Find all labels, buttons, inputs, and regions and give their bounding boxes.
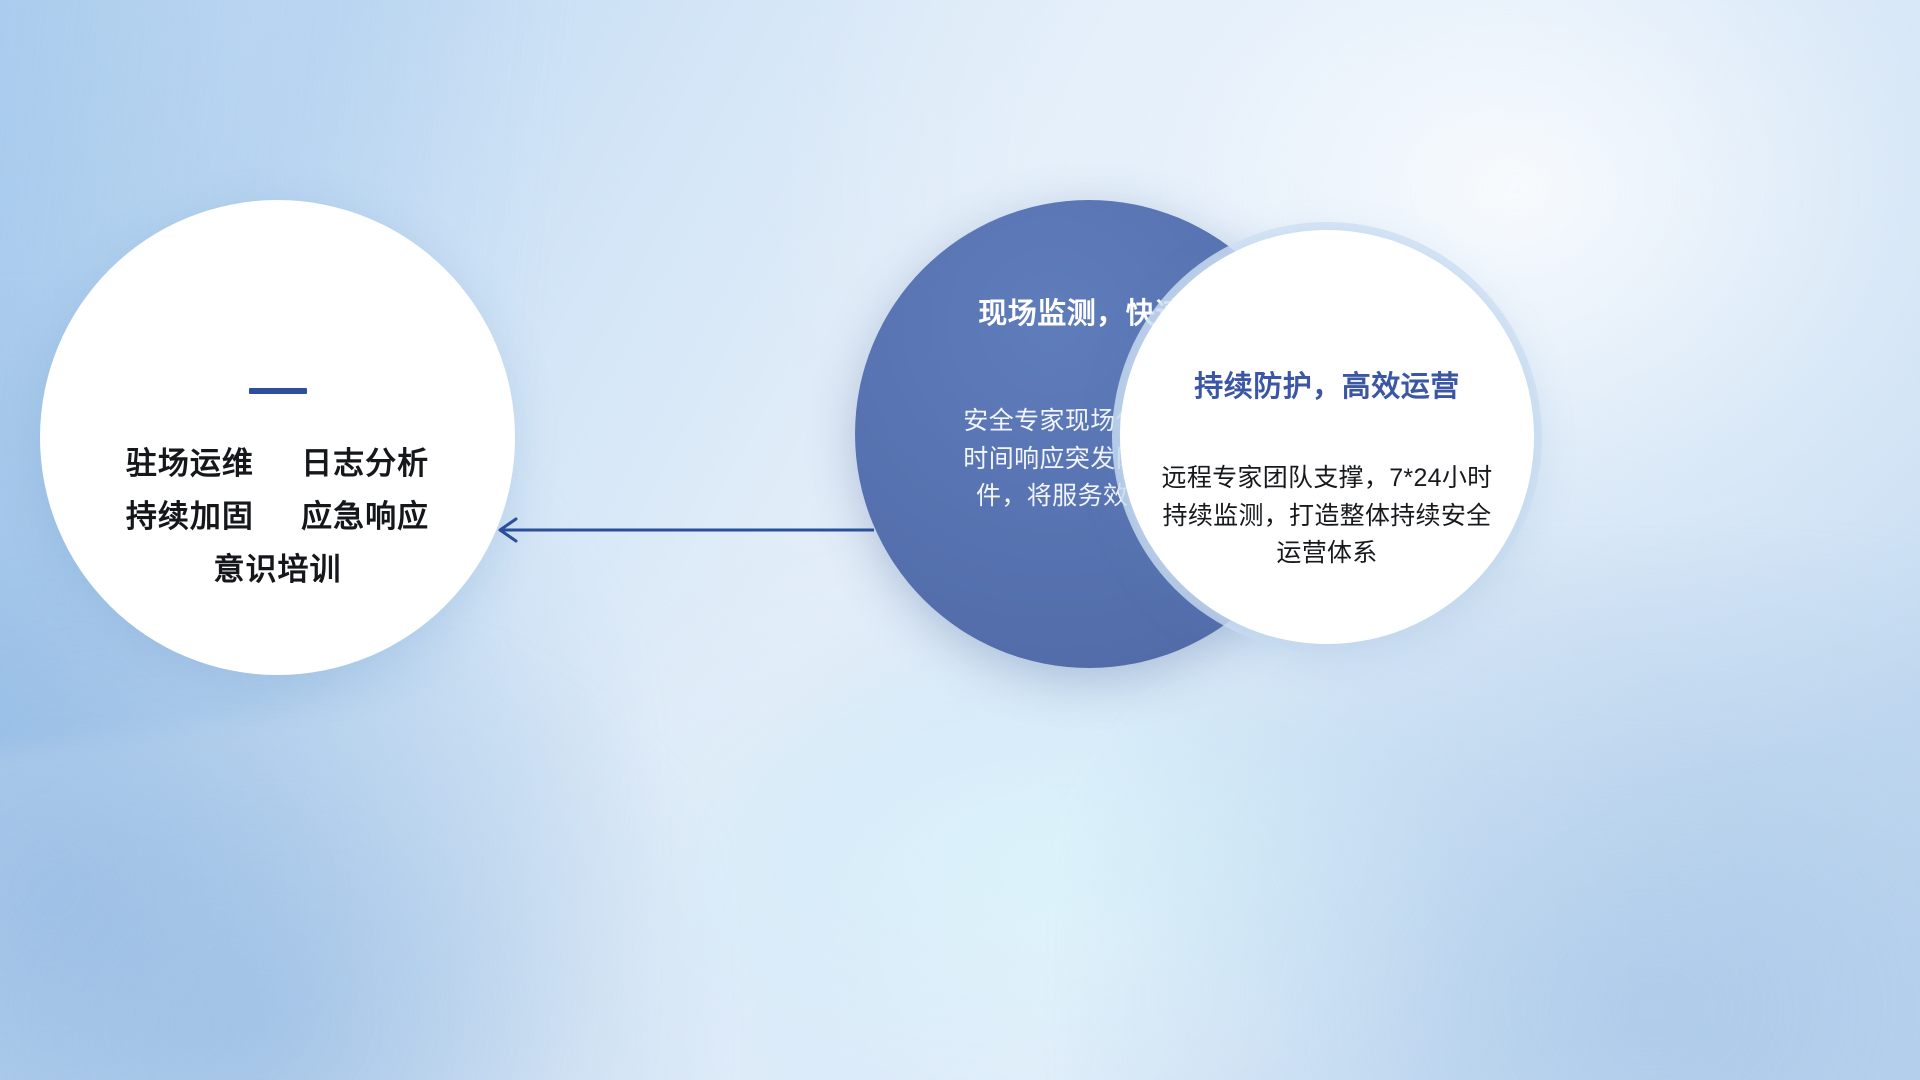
slide-canvas: 驻场运维 日志分析 持续加固 应急响应 意识培训 现 [0,0,1920,1080]
divider-dash [249,388,307,394]
capability-item-chixujiagu: 持续加固 [126,499,254,534]
capability-line-3: 意识培训 [214,554,342,585]
right-circle-content: 持续防护，高效运营 远程专家团队支撑，7*24小时持续监测，打造整体持续安全运营… [1120,230,1534,644]
left-capability-circle[interactable]: 驻场运维 日志分析 持续加固 应急响应 意识培训 [40,200,515,675]
capability-item-zhuchangyunwei: 驻场运维 [126,446,254,481]
arrow-left-pointing [484,512,874,548]
arrow-icon [484,512,874,548]
right-circle-body: 远程专家团队支撑，7*24小时持续监测，打造整体持续安全运营体系 [1151,460,1503,573]
capability-line-1: 驻场运维 日志分析 [126,448,429,479]
capability-item-yingjixiangying: 应急响应 [301,499,429,534]
capability-list: 驻场运维 日志分析 持续加固 应急响应 意识培训 [126,448,429,585]
right-circle-title: 持续防护，高效运营 [1194,373,1460,402]
left-circle-content: 驻场运维 日志分析 持续加固 应急响应 意识培训 [40,200,515,675]
capability-item-yishipeixun: 意识培训 [214,552,342,587]
capability-item-rizhifenxi: 日志分析 [301,446,429,481]
background-bottom-left-shade [0,644,708,1080]
capability-line-2: 持续加固 应急响应 [126,501,429,532]
continuous-protection-circle[interactable]: 持续防护，高效运营 远程专家团队支撑，7*24小时持续监测，打造整体持续安全运营… [1120,230,1534,644]
